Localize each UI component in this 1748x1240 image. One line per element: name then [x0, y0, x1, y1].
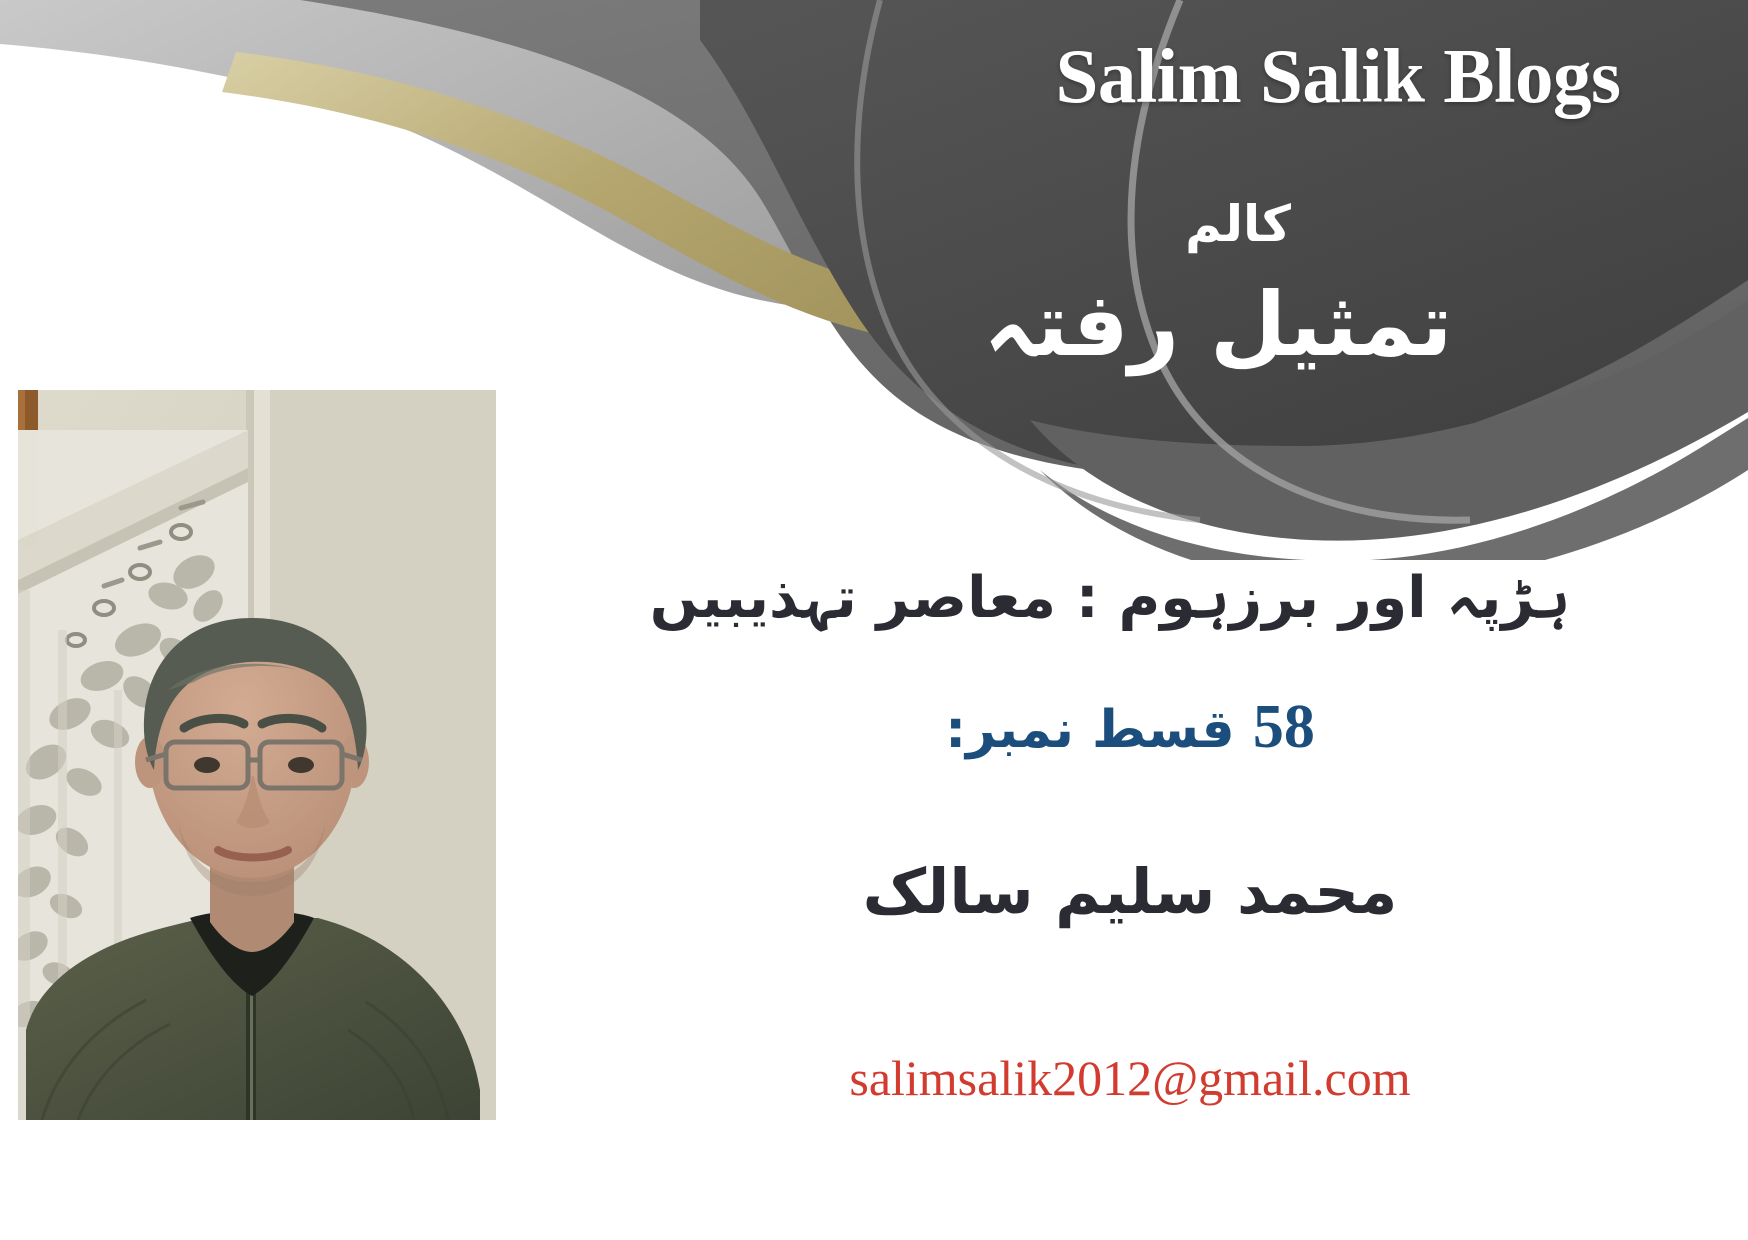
column-kicker-label: کالم: [1028, 196, 1448, 254]
episode-number: 58: [1253, 693, 1315, 761]
author-email[interactable]: salimsalik2012@gmail.com: [560, 1048, 1700, 1108]
page-title: Salim Salik Blogs: [958, 36, 1718, 117]
eye-left: [194, 757, 220, 773]
episode-label: قسط نمبر:: [945, 700, 1235, 760]
episode-line: 58 قسط نمبر:: [560, 686, 1700, 770]
eye-right: [288, 757, 314, 773]
blog-poster: Salim Salik Blogs کالم تمثیل رفتہ: [0, 0, 1748, 1240]
author-name: محمد سلیم سالک: [560, 850, 1700, 934]
column-name: تمثیل رفتہ: [938, 272, 1498, 378]
article-headline: ہڑپہ اور برزہوم : معاصر تہذیبیں: [500, 560, 1720, 637]
author-photo: [18, 390, 496, 1120]
wave-dark-crescent: [1040, 418, 1748, 560]
